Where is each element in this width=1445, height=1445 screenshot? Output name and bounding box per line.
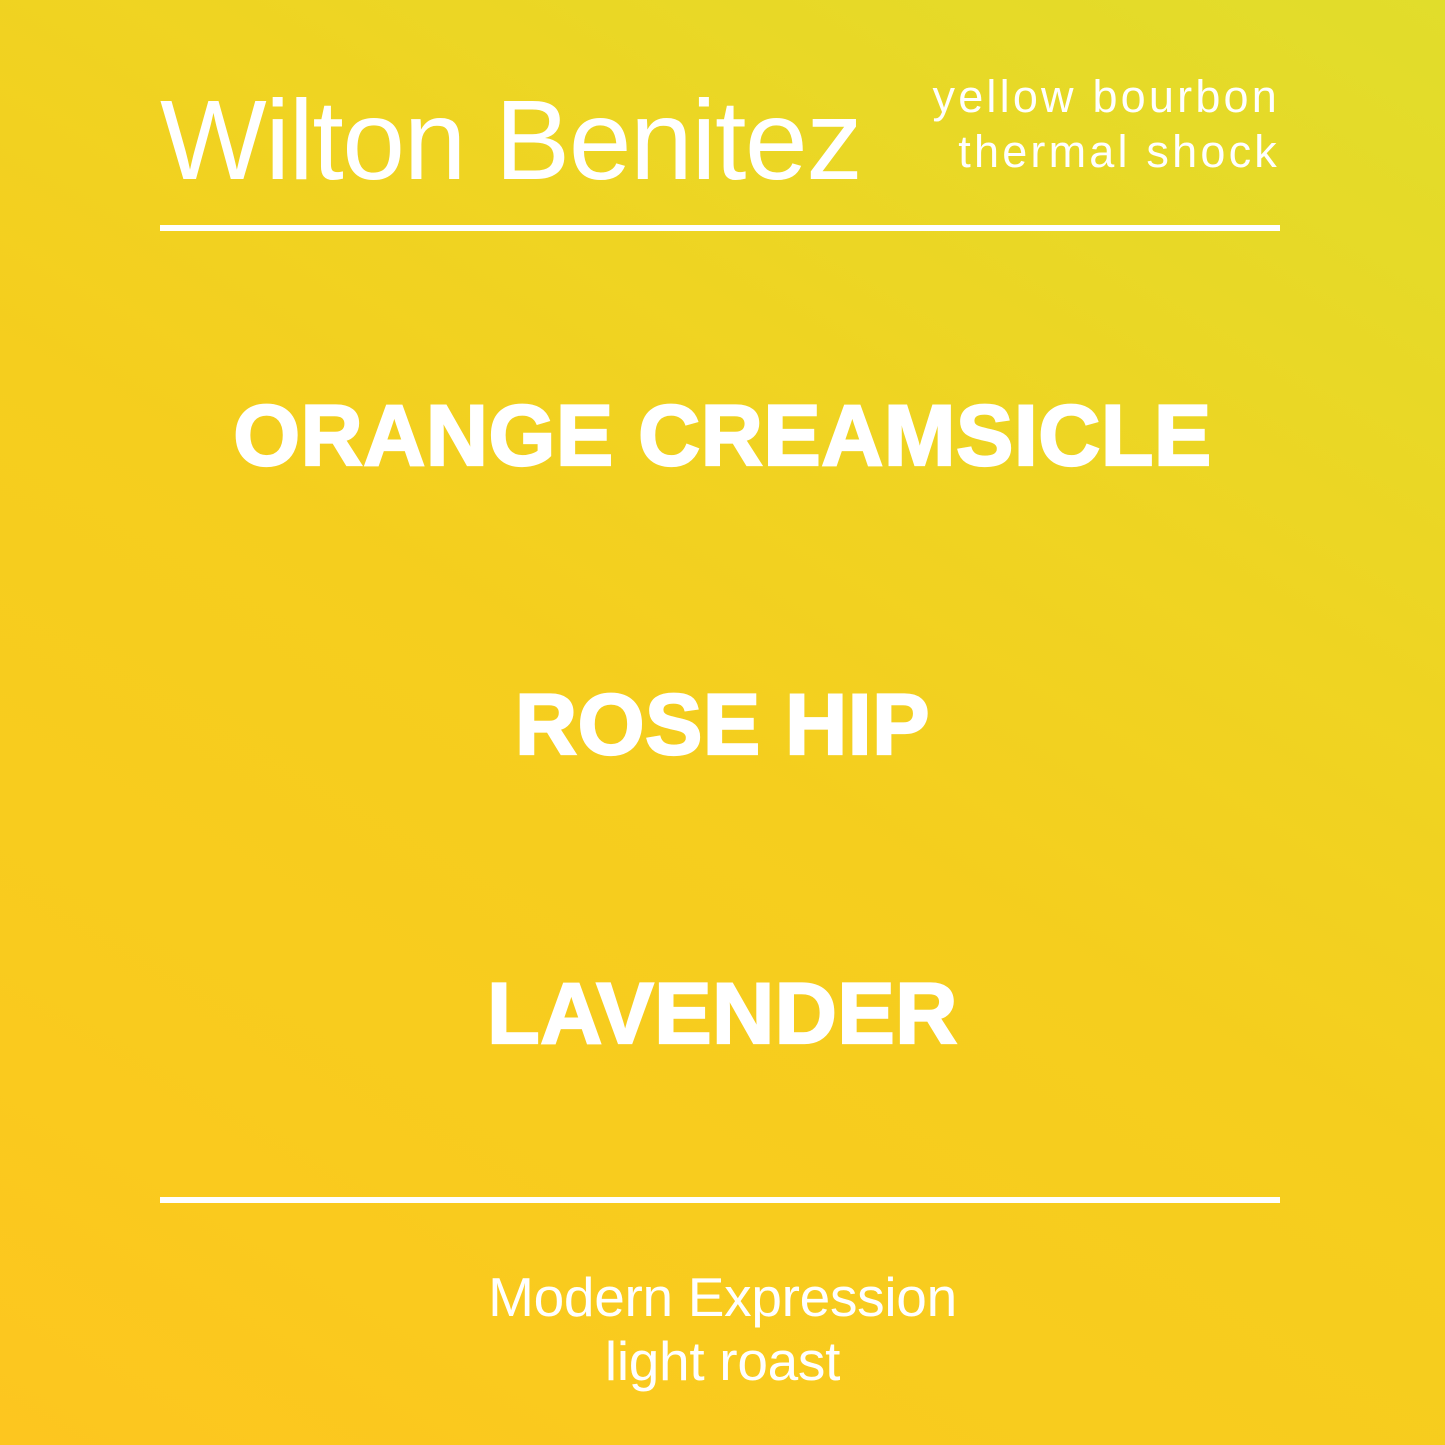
flavor-note-2: ROSE HIP xyxy=(515,682,930,768)
varietal-process-block: yellow bourbon thermal shock xyxy=(933,70,1281,180)
varietal-line: yellow bourbon xyxy=(933,70,1281,125)
coffee-bag-label: Wilton Benitez yellow bourbon thermal sh… xyxy=(0,0,1445,1445)
flavor-note-3: LAVENDER xyxy=(487,971,958,1057)
divider-bottom xyxy=(160,1197,1280,1203)
label-header: Wilton Benitez yellow bourbon thermal sh… xyxy=(160,62,1280,202)
divider-top xyxy=(160,225,1280,231)
flavor-notes-list: ORANGE CREAMSICLE ROSE HIP LAVENDER xyxy=(0,260,1445,1190)
roast-level: light roast xyxy=(0,1329,1445,1393)
roast-profile-name: Modern Expression xyxy=(0,1265,1445,1329)
flavor-note-1: ORANGE CREAMSICLE xyxy=(233,393,1211,479)
producer-name: Wilton Benitez xyxy=(160,84,861,197)
process-line: thermal shock xyxy=(933,125,1281,180)
label-footer: Modern Expression light roast xyxy=(0,1265,1445,1394)
